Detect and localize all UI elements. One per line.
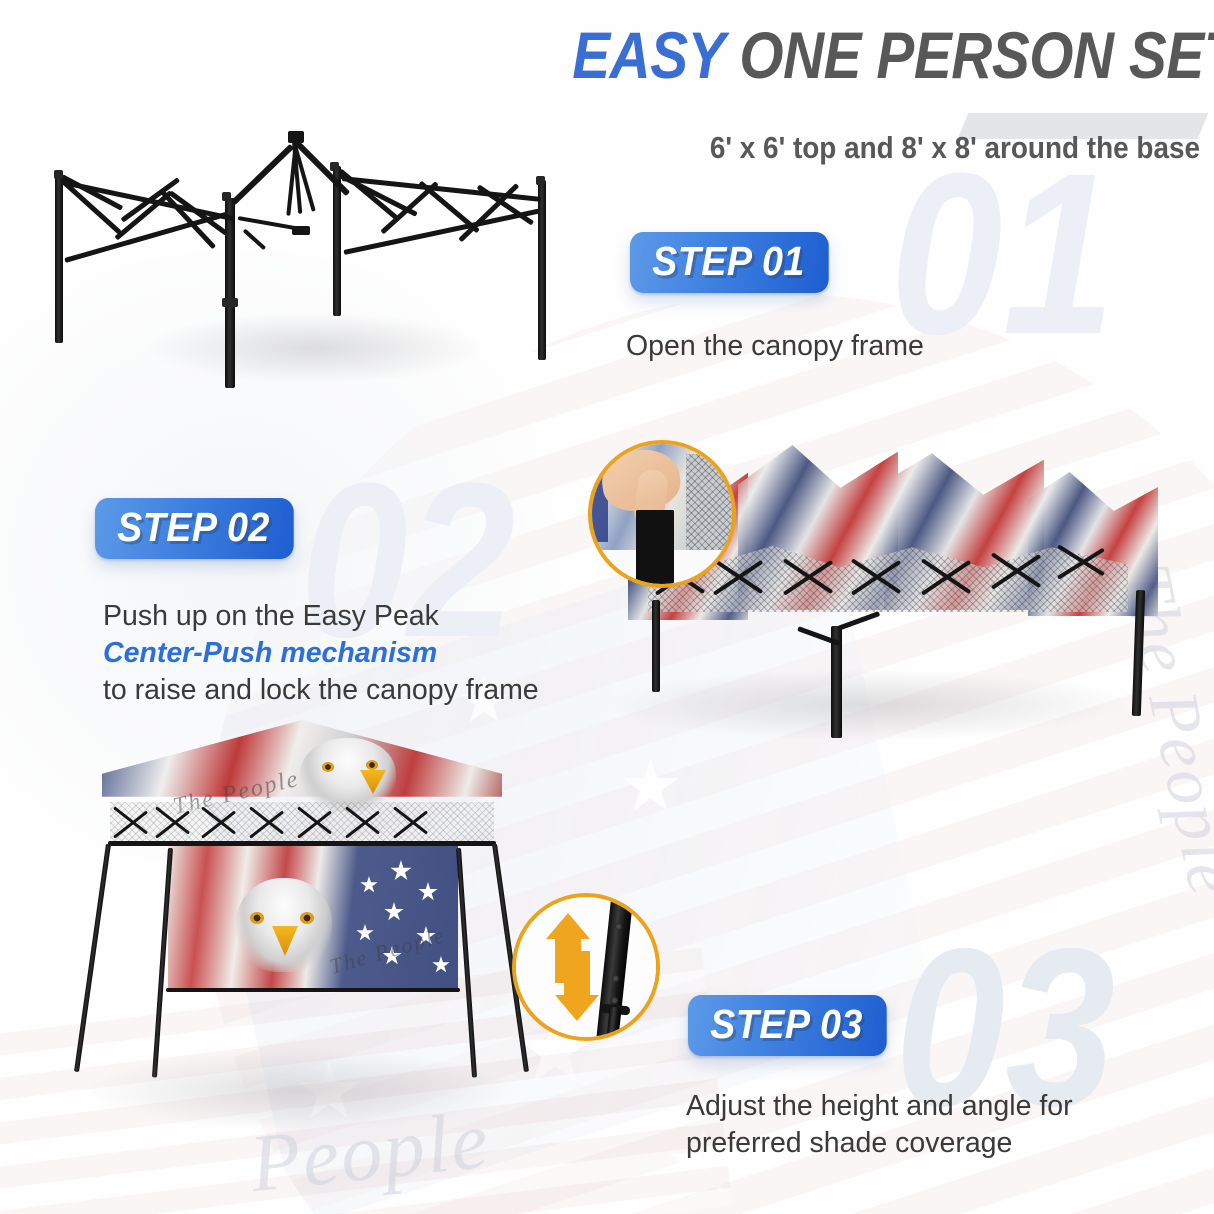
canopy2-leg-left [652, 600, 660, 692]
pole-adjust-hole [615, 923, 622, 930]
truss-bar [231, 144, 294, 205]
valance-eagle-eye [250, 912, 264, 924]
arrow-up-icon [546, 913, 590, 939]
frame-joint [330, 162, 339, 171]
pole-adjust-hole [611, 997, 618, 1004]
step-03-description: Adjust the height and angle for preferre… [686, 1088, 1073, 1162]
frame-leg-right [538, 180, 546, 360]
valance-eagle-eye [300, 912, 314, 924]
page-title-rest: ONE PERSON SETUP [739, 18, 1214, 92]
callout-center-push-detail [588, 440, 736, 588]
roof-eagle-eye [366, 760, 378, 770]
step-02-line-1: Push up on the Easy Peak [103, 598, 539, 635]
canopy2-leg-brace [837, 611, 880, 631]
step-02-line-3: to raise and lock the canopy frame [103, 672, 539, 709]
step-03-line-1: Adjust the height and angle for [686, 1088, 1073, 1125]
frame-joint [222, 192, 231, 201]
image-canopy-setup: The People The Peop [60, 720, 540, 1190]
step-02-description: Push up on the Easy Peak Center-Push mec… [103, 598, 539, 709]
watermark-number-01: 01 [890, 160, 1115, 349]
roof-eagle-eye [322, 762, 334, 772]
step-01-badge[interactable]: STEP 01 [630, 232, 829, 293]
flag-star [622, 758, 680, 816]
page-title: EASY ONE PERSON SETUP [572, 22, 1200, 88]
image-canopy-frame [30, 118, 575, 388]
valance-eagle-head [236, 878, 332, 972]
infographic-page: The People People EASY ONE PERSON SETUP … [0, 0, 1214, 1214]
velcro-strap-front [636, 510, 674, 584]
frame-joint [222, 298, 238, 307]
frame-shadow [150, 313, 480, 383]
arrow-down-icon [555, 995, 599, 1021]
frame-joint [54, 170, 63, 179]
page-subtitle: 6' x 6' top and 8' x 8' around the base [543, 130, 1200, 166]
canopy3-valance-rail [166, 988, 460, 992]
truss-bar [343, 208, 540, 254]
step-02-badge[interactable]: STEP 02 [95, 498, 294, 559]
frame-joint [536, 176, 545, 185]
canopy3-leg-back-right [456, 848, 477, 1078]
truss-bar [238, 216, 298, 230]
step-03-badge[interactable]: STEP 03 [688, 995, 887, 1056]
callout-height-adjust [512, 893, 660, 1041]
pole-adjust-hole [612, 975, 619, 982]
arrow-down-shaft [564, 951, 590, 997]
step-02-line-2-accent: Center-Push mechanism [103, 635, 539, 672]
step-03-line-2: preferred shade coverage [686, 1125, 1073, 1162]
canopy3-leg-front-left [74, 844, 111, 1072]
step-01-description: Open the canopy frame [626, 328, 924, 365]
page-title-highlight: EASY [572, 18, 724, 92]
frame-leg-left [55, 173, 63, 343]
truss-bar [243, 229, 266, 251]
frame-leg-center-front [225, 198, 235, 388]
canopy2-shadow [608, 670, 1128, 740]
